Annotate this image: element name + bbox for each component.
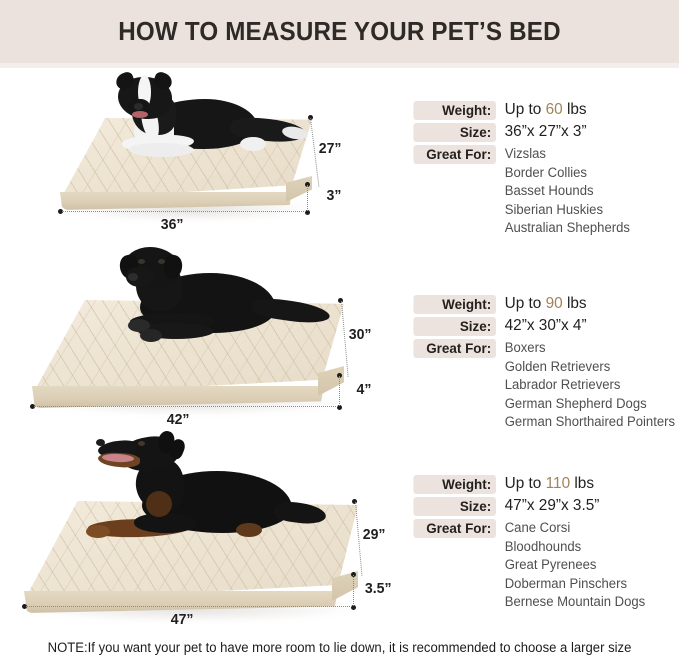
- spec-size-row: Size: 47”x 29”x 3.5”: [410, 497, 650, 519]
- dim-label-length: 36”: [161, 216, 184, 233]
- dog-nose: [96, 439, 105, 446]
- weight-value: Up to 110 lbs: [496, 475, 594, 493]
- list-item: Bloodhounds: [505, 538, 645, 557]
- bed-row-small: 27” 3” 36” Weight: Up to 60 lbs Size: 36…: [0, 68, 679, 248]
- dim-label-width: 30”: [349, 326, 372, 343]
- list-item: Siberian Huskies: [505, 201, 630, 220]
- size-label: Size:: [413, 317, 496, 336]
- list-item: Boxers: [505, 339, 675, 358]
- dog-paw-rear: [236, 523, 262, 537]
- dim-label-width: 29”: [363, 526, 386, 543]
- spec-weight-row: Weight: Up to 110 lbs: [410, 475, 650, 497]
- spec-breeds-row: Great For: Cane Corsi Bloodhounds Great …: [410, 519, 650, 612]
- list-item: Great Pyrenees: [505, 556, 645, 575]
- size-label: Size:: [413, 123, 496, 142]
- dim-line-length: [26, 606, 352, 607]
- footer-note: NOTE:If you want your pet to have more r…: [10, 640, 669, 655]
- spec-size-row: Size: 42”x 30”x 4”: [410, 317, 679, 339]
- list-item: German Shepherd Dogs: [505, 395, 675, 414]
- dim-line-height: [353, 575, 354, 606]
- list-item: German Shorthaired Pointers: [505, 413, 675, 432]
- bed-row-large: 30” 4” 42” Weight: Up to 90 lbs Size: 42…: [0, 248, 679, 433]
- spec-breeds-row: Great For: Vizslas Border Collies Basset…: [410, 145, 634, 238]
- dog-front-leg-2: [130, 143, 194, 157]
- great-for-label: Great For:: [413, 145, 496, 164]
- dim-line-length: [34, 406, 338, 407]
- dog-front-leg-dark: [134, 513, 198, 533]
- spec-panel-small: Weight: Up to 60 lbs Size: 36”x 27”x 3” …: [410, 101, 634, 238]
- dog-rear: [273, 499, 327, 526]
- dog-chest-tan: [146, 491, 172, 517]
- breed-list: Cane Corsi Bloodhounds Great Pyrenees Do…: [496, 519, 645, 612]
- dog-eye-left: [138, 259, 145, 264]
- list-item: Cane Corsi: [505, 519, 645, 538]
- list-item: Labrador Retrievers: [505, 376, 675, 395]
- list-item: Vizslas: [505, 145, 630, 164]
- dim-line-length: [62, 211, 306, 212]
- dim-label-height: 4”: [356, 381, 371, 398]
- dim-line-height: [307, 185, 308, 211]
- dog-black-labrador: [106, 243, 326, 355]
- list-item: Golden Retrievers: [505, 358, 675, 377]
- dim-line-height: [339, 376, 340, 406]
- dog-border-collie: [104, 71, 304, 163]
- spec-panel-xlarge: Weight: Up to 110 lbs Size: 47”x 29”x 3.…: [410, 475, 650, 612]
- breed-list: Boxers Golden Retrievers Labrador Retrie…: [496, 339, 675, 432]
- dog-doberman: [84, 435, 324, 555]
- dog-eye: [138, 441, 145, 446]
- size-value: 42”x 30”x 4”: [496, 317, 587, 335]
- great-for-label: Great For:: [413, 339, 496, 358]
- dog-nose: [128, 273, 138, 281]
- spec-breeds-row: Great For: Boxers Golden Retrievers Labr…: [410, 339, 679, 432]
- list-item: Australian Shepherds: [505, 219, 630, 238]
- size-value: 36”x 27”x 3”: [496, 123, 587, 141]
- infographic-page: HOW TO MEASURE YOUR PET’S BED: [0, 0, 679, 668]
- list-item: Basset Hounds: [505, 182, 630, 201]
- list-item: Border Collies: [505, 164, 630, 183]
- page-title: HOW TO MEASURE YOUR PET’S BED: [24, 0, 655, 63]
- great-for-label: Great For:: [413, 519, 496, 538]
- dim-label-height: 3”: [326, 187, 341, 204]
- bed-row-xlarge: 29” 3.5” 47” Weight: Up to 110 lbs Size:…: [0, 433, 679, 628]
- dog-rear-paw: [240, 137, 266, 151]
- weight-value: Up to 90 lbs: [496, 295, 587, 313]
- dog-paw-front: [86, 525, 110, 538]
- list-item: Doberman Pinschers: [505, 575, 645, 594]
- dog-paw-2: [140, 329, 162, 342]
- size-value: 47”x 29”x 3.5”: [496, 497, 599, 515]
- weight-label: Weight:: [413, 295, 496, 314]
- spec-weight-row: Weight: Up to 90 lbs: [410, 295, 679, 317]
- spec-panel-large: Weight: Up to 90 lbs Size: 42”x 30”x 4” …: [410, 295, 679, 432]
- dim-label-width: 27”: [319, 140, 342, 157]
- list-item: Bernese Mountain Dogs: [505, 593, 645, 612]
- spec-size-row: Size: 36”x 27”x 3”: [410, 123, 634, 145]
- weight-value: Up to 60 lbs: [496, 101, 587, 119]
- weight-label: Weight:: [413, 101, 496, 120]
- dog-eye-right: [158, 259, 165, 264]
- size-label: Size:: [413, 497, 496, 516]
- dim-label-height: 3.5”: [365, 580, 392, 597]
- spec-weight-row: Weight: Up to 60 lbs: [410, 101, 634, 123]
- dim-label-length: 47”: [171, 611, 194, 628]
- dog-nose: [134, 103, 143, 110]
- dog-tongue: [132, 111, 148, 118]
- breed-list: Vizslas Border Collies Basset Hounds Sib…: [496, 145, 630, 238]
- dim-label-length: 42”: [167, 411, 190, 428]
- weight-label: Weight:: [413, 475, 496, 494]
